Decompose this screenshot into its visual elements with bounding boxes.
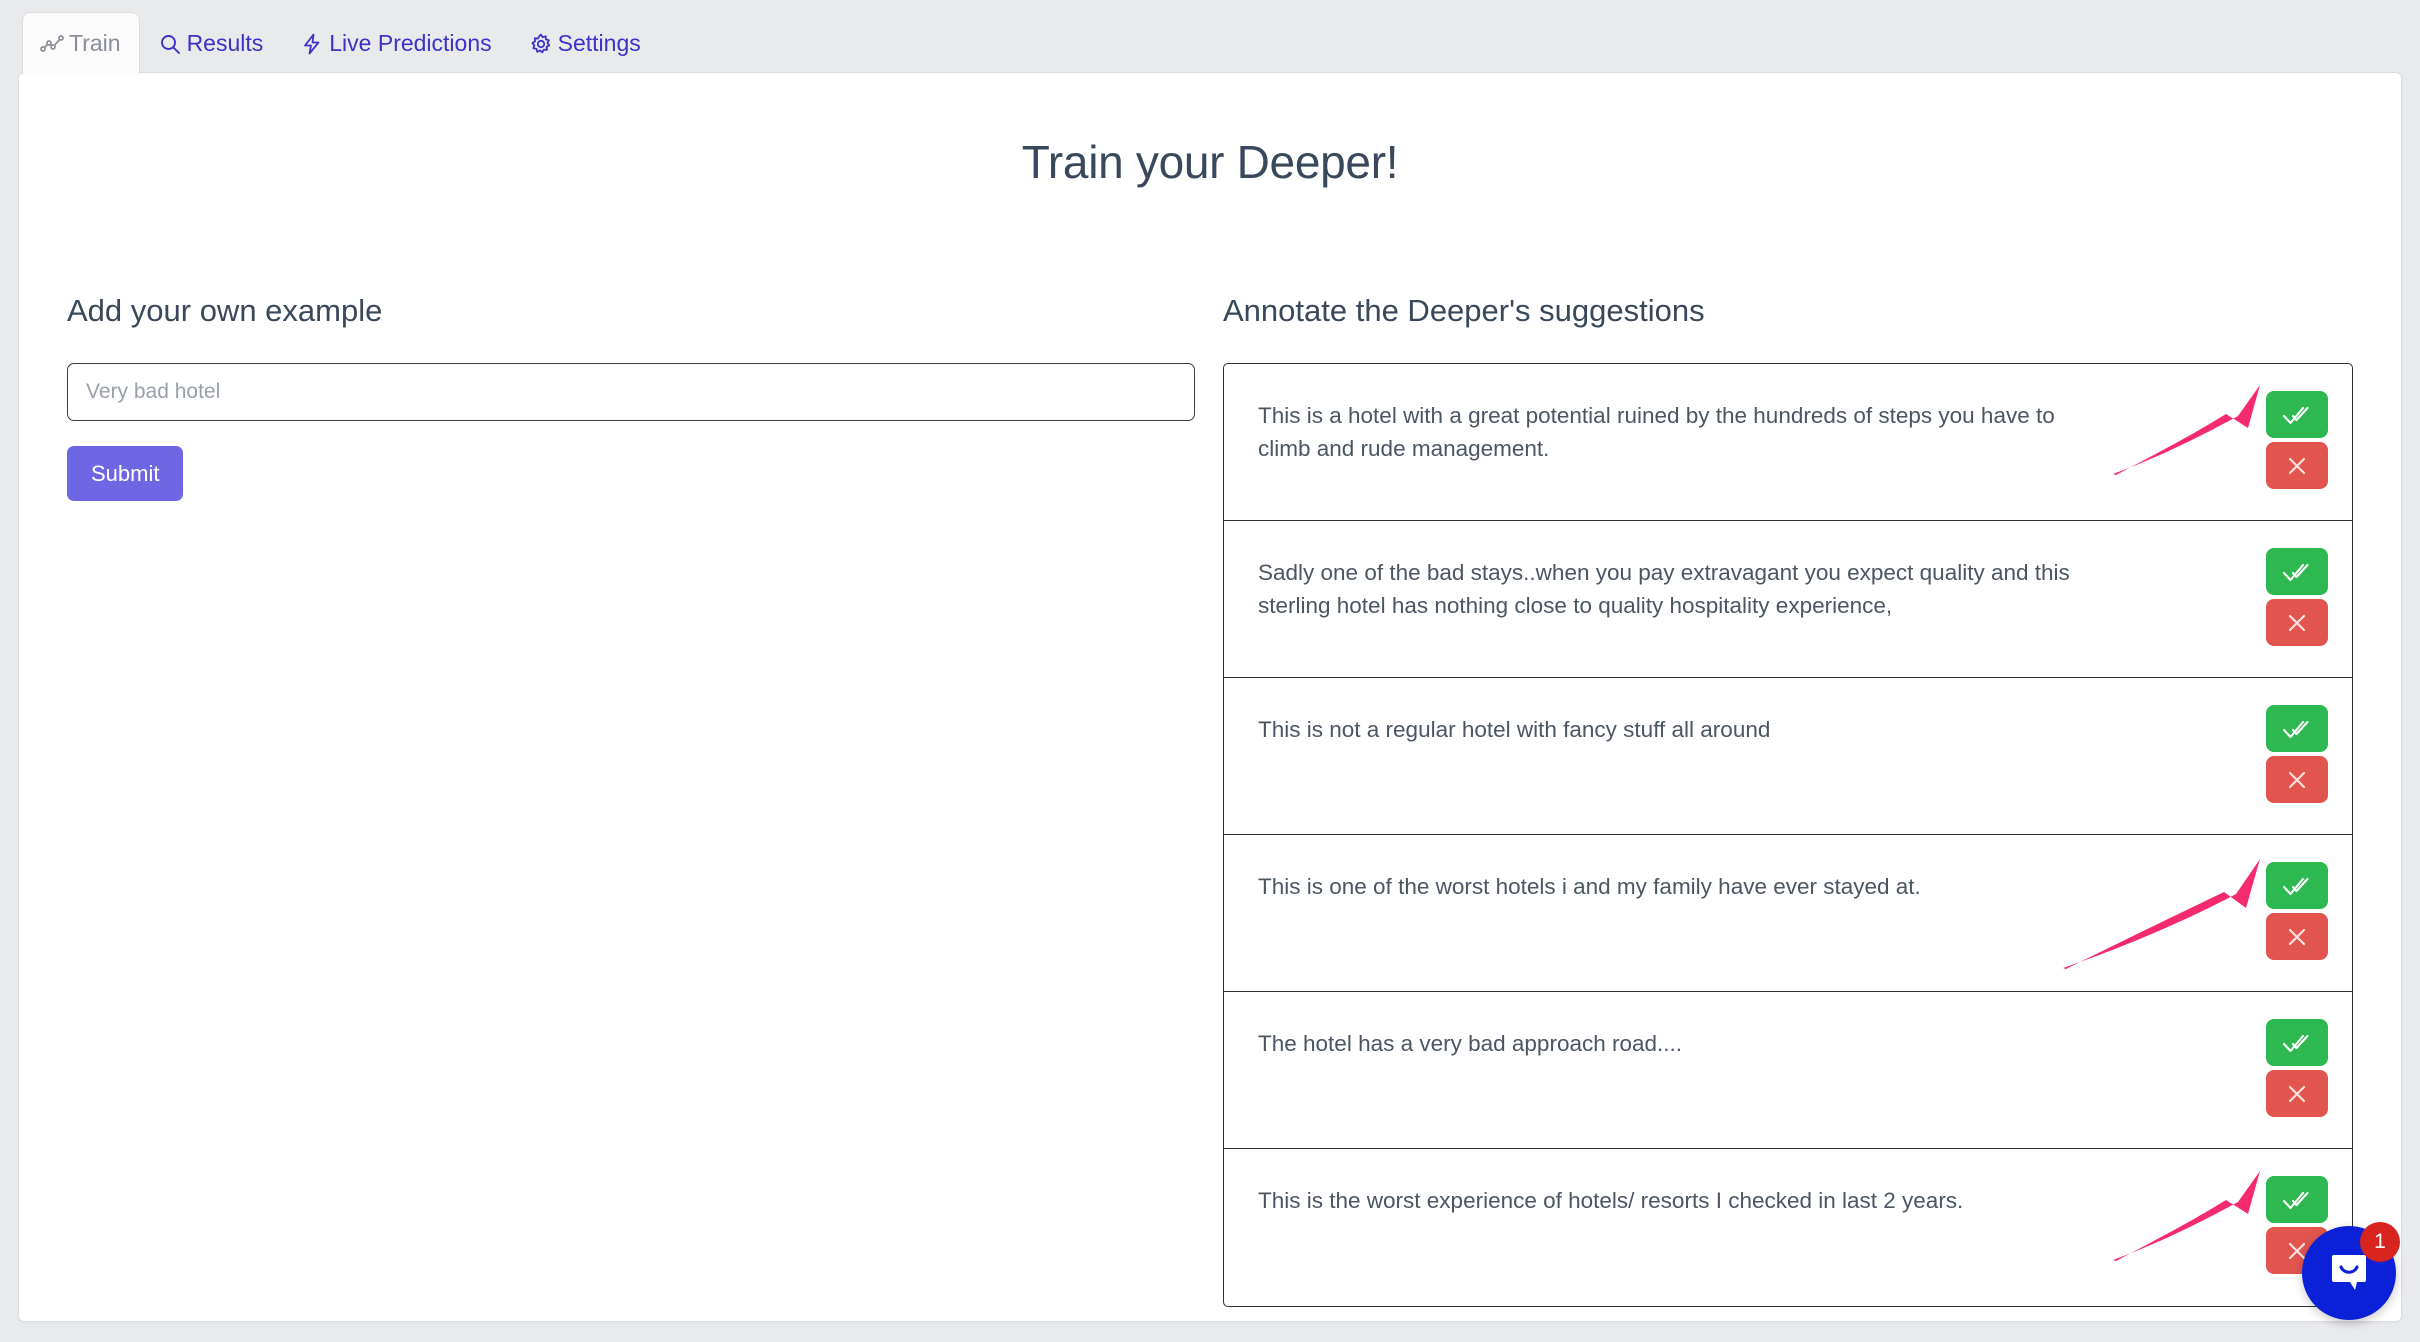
approve-button[interactable] (2266, 391, 2328, 438)
tab-train-label: Train (69, 30, 121, 57)
annotate-title: Annotate the Deeper's suggestions (1223, 293, 2353, 329)
close-x-icon (2285, 768, 2309, 792)
vote-controls (2266, 548, 2328, 646)
approve-button[interactable] (2266, 1176, 2328, 1223)
reject-button[interactable] (2266, 442, 2328, 489)
suggestion-row: This is not a regular hotel with fancy s… (1224, 678, 2352, 835)
gear-icon (528, 31, 554, 57)
suggestion-row: The hotel has a very bad approach road..… (1224, 992, 2352, 1149)
double-check-icon (2282, 404, 2312, 426)
suggestion-text: The hotel has a very bad approach road..… (1258, 1026, 2098, 1061)
suggestion-row: This is a hotel with a great potential r… (1224, 364, 2352, 521)
reject-button[interactable] (2266, 599, 2328, 646)
suggestion-text: This is not a regular hotel with fancy s… (1258, 712, 2098, 747)
vote-controls (2266, 391, 2328, 489)
double-check-icon (2282, 875, 2312, 897)
submit-button[interactable]: Submit (67, 446, 183, 501)
vote-controls (2266, 705, 2328, 803)
tab-live-predictions[interactable]: Live Predictions (282, 12, 510, 74)
suggestion-text: This is a hotel with a great potential r… (1258, 398, 2098, 465)
close-x-icon (2285, 454, 2309, 478)
approve-button[interactable] (2266, 548, 2328, 595)
reject-button[interactable] (2266, 1070, 2328, 1117)
approve-button[interactable] (2266, 1019, 2328, 1066)
double-check-icon (2282, 1032, 2312, 1054)
tab-live-predictions-label: Live Predictions (329, 30, 491, 57)
double-check-icon (2282, 561, 2312, 583)
vote-controls (2266, 862, 2328, 960)
suggestion-text: Sadly one of the bad stays..when you pay… (1258, 555, 2098, 622)
close-x-icon (2285, 925, 2309, 949)
main-panel: Train your Deeper! Add your own example … (18, 72, 2402, 1322)
tab-results-label: Results (187, 30, 264, 57)
tab-settings-label: Settings (558, 30, 641, 57)
suggestion-row: This is the worst experience of hotels/ … (1224, 1149, 2352, 1306)
intercom-unread-badge: 1 (2360, 1222, 2400, 1262)
vote-controls (2266, 1019, 2328, 1117)
suggestion-text: This is the worst experience of hotels/ … (1258, 1183, 2098, 1218)
tab-results[interactable]: Results (140, 12, 283, 74)
tab-bar: Train Results Live Predictions Settings (0, 0, 2420, 74)
close-x-icon (2285, 1082, 2309, 1106)
content-columns: Add your own example Submit Annotate the… (19, 293, 2401, 1307)
double-check-icon (2282, 1189, 2312, 1211)
approve-button[interactable] (2266, 862, 2328, 909)
reject-button[interactable] (2266, 913, 2328, 960)
double-check-icon (2282, 718, 2312, 740)
approve-button[interactable] (2266, 705, 2328, 752)
search-icon (157, 31, 183, 57)
suggestion-text: This is one of the worst hotels i and my… (1258, 869, 2098, 904)
tab-train[interactable]: Train (22, 12, 140, 74)
suggestion-list: This is a hotel with a great potential r… (1223, 363, 2353, 1307)
add-example-panel: Add your own example Submit (49, 293, 1199, 1307)
intercom-launcher[interactable]: 1 (2302, 1226, 2396, 1320)
line-chart-icon (39, 31, 65, 57)
reject-button[interactable] (2266, 756, 2328, 803)
suggestion-row: Sadly one of the bad stays..when you pay… (1224, 521, 2352, 678)
annotate-panel: Annotate the Deeper's suggestions This i… (1199, 293, 2353, 1307)
example-input[interactable] (67, 363, 1195, 421)
suggestion-row: This is one of the worst hotels i and my… (1224, 835, 2352, 992)
tab-settings[interactable]: Settings (511, 12, 660, 74)
close-x-icon (2285, 611, 2309, 635)
bolt-icon (299, 31, 325, 57)
page-title: Train your Deeper! (19, 135, 2401, 189)
add-example-title: Add your own example (67, 293, 1199, 329)
